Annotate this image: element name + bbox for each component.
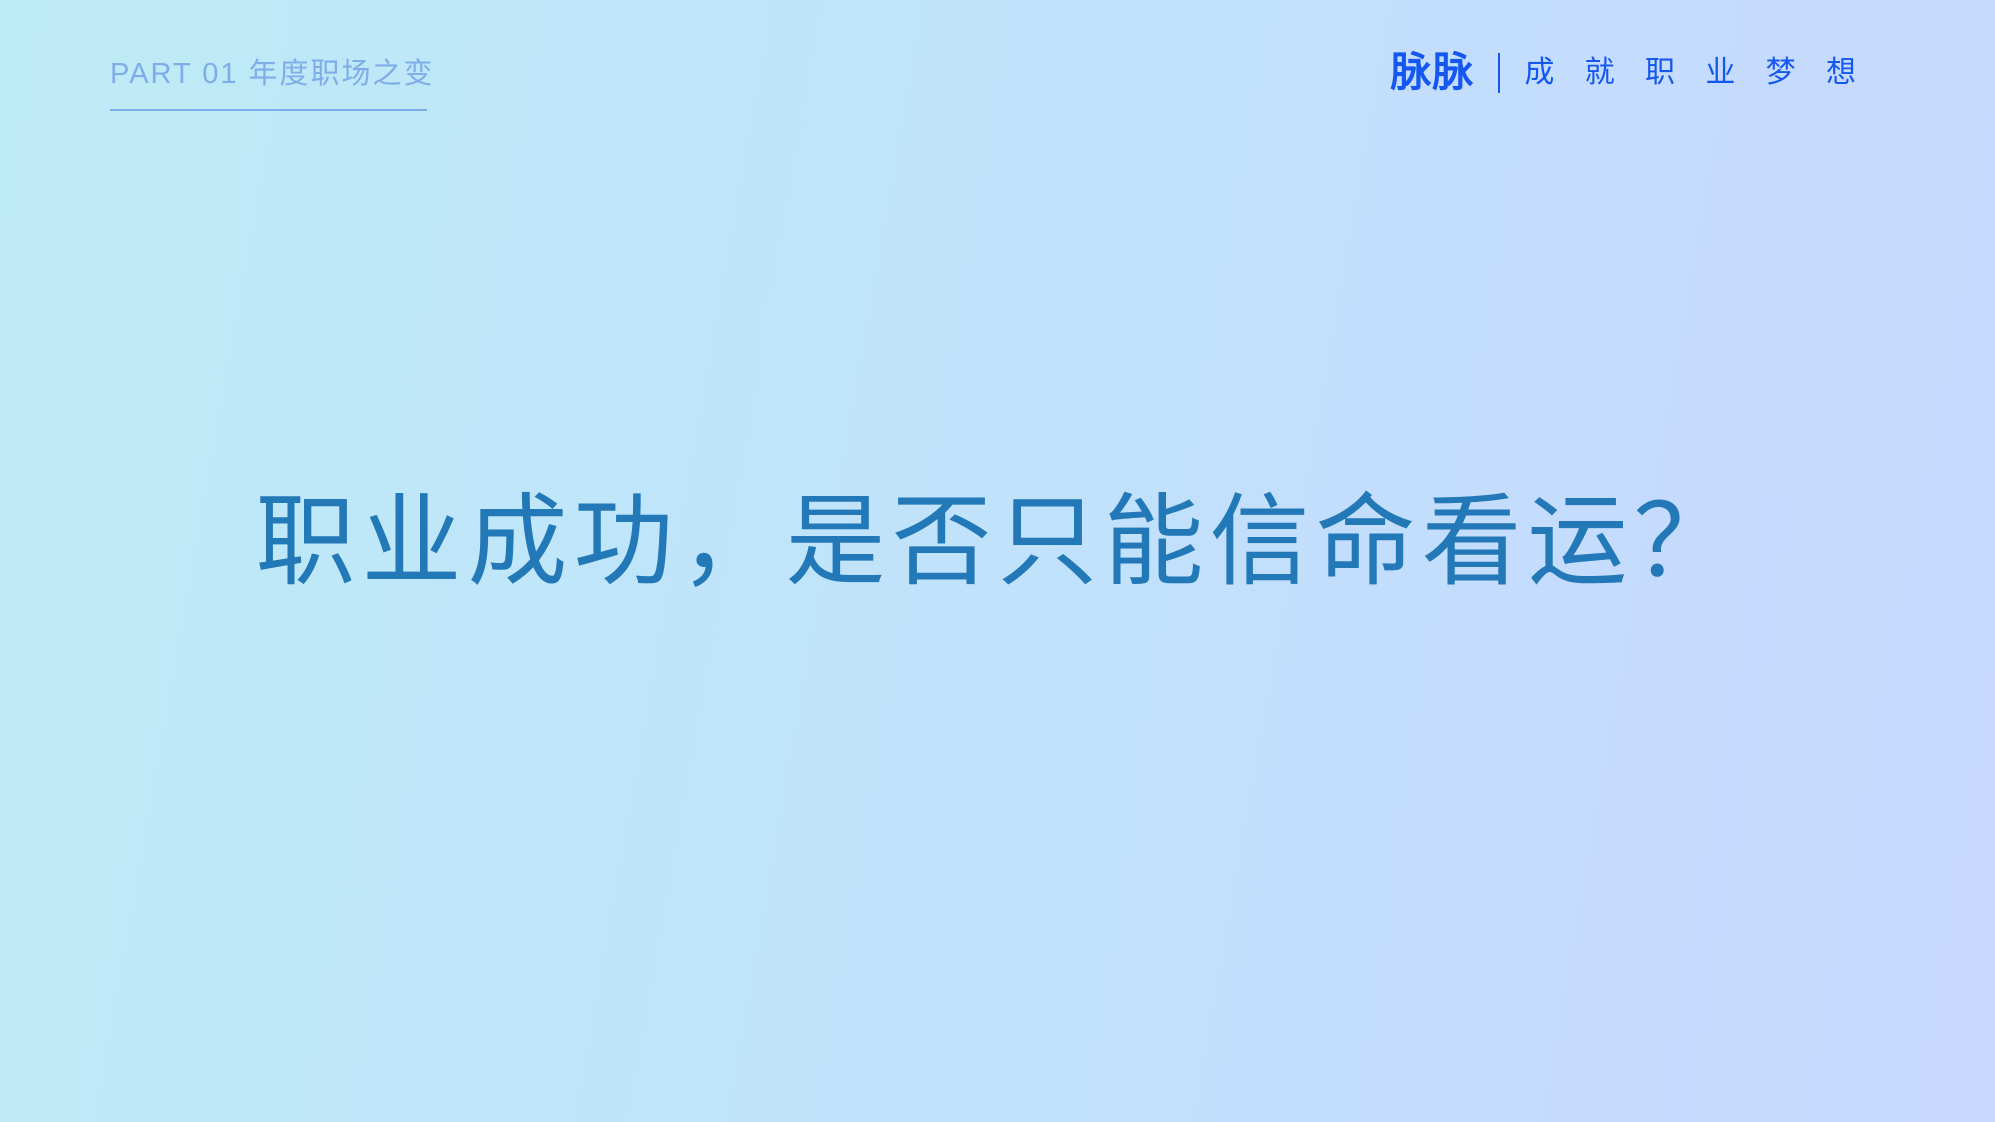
section-label-text: PART 01 年度职场之变 <box>110 57 435 92</box>
brand-logo-text: 脉脉 <box>1390 52 1474 93</box>
brand-tagline: 成 就 职 业 梦 想 <box>1524 58 1867 88</box>
slide-headline: 职业成功，是否只能信命看运？ <box>256 480 1740 605</box>
presentation-slide: PART 01 年度职场之变 脉脉 成 就 职 业 梦 想 职业成功，是否只能信… <box>0 0 1995 1122</box>
brand-lockup: 脉脉 成 就 职 业 梦 想 <box>1390 52 1867 93</box>
brand-divider <box>1498 53 1500 93</box>
headline-container: 职业成功，是否只能信命看运？ <box>0 455 1995 630</box>
section-label-underline <box>110 109 427 111</box>
section-label: PART 01 年度职场之变 <box>110 57 435 111</box>
